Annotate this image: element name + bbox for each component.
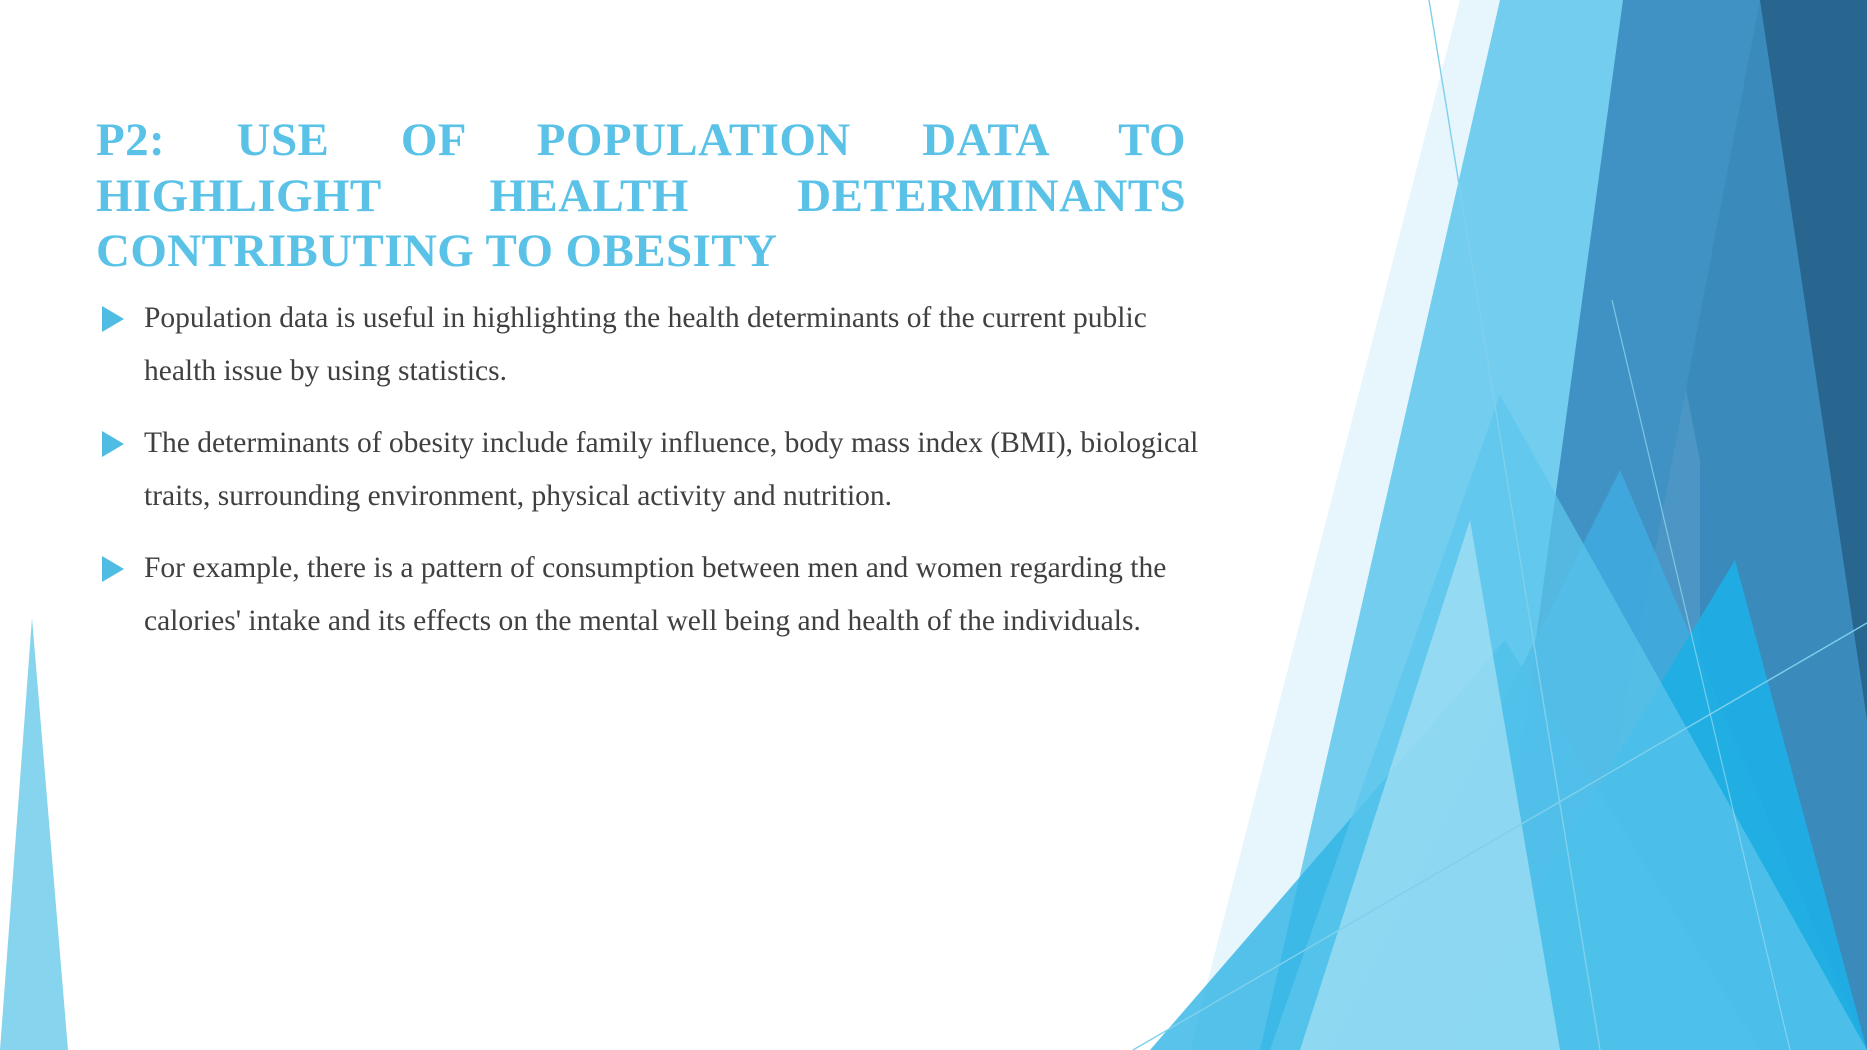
bullet-text: The determinants of obesity include fami… <box>144 417 1206 522</box>
list-item: For example, there is a pattern of consu… <box>96 542 1206 647</box>
bullet-text: Population data is useful in highlightin… <box>144 292 1206 397</box>
slide-content: P2: USE OF POPULATION DATA TO HIGHLIGHT … <box>0 0 1867 1050</box>
presentation-slide: P2: USE OF POPULATION DATA TO HIGHLIGHT … <box>0 0 1867 1050</box>
triangle-bullet-icon <box>102 306 124 332</box>
list-item: The determinants of obesity include fami… <box>96 417 1206 522</box>
bullet-list: Population data is useful in highlightin… <box>96 292 1206 667</box>
triangle-bullet-icon <box>102 431 124 457</box>
triangle-bullet-icon <box>102 556 124 582</box>
bullet-text: For example, there is a pattern of consu… <box>144 542 1206 647</box>
slide-title: P2: USE OF POPULATION DATA TO HIGHLIGHT … <box>96 113 1186 279</box>
list-item: Population data is useful in highlightin… <box>96 292 1206 397</box>
